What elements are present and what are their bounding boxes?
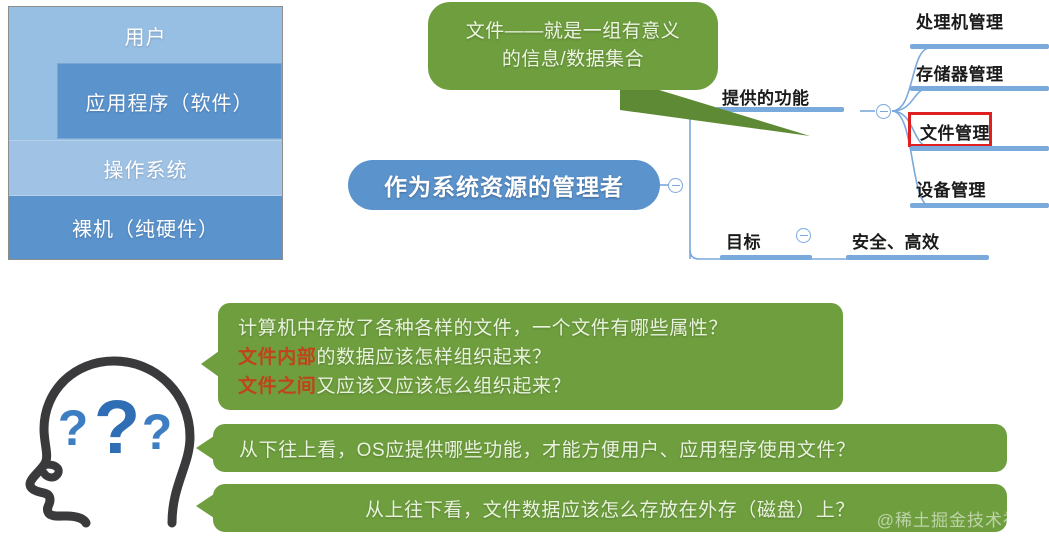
mindmap-root-label: 作为系统资源的管理者 — [384, 168, 624, 202]
layer-application: 应用程序（软件） — [57, 63, 282, 139]
mindmap-leaf-device-management-underline — [910, 203, 1049, 208]
bubble-1-text-3: 又应该又应该怎么组织起来？ — [316, 376, 571, 397]
file-definition-callout: 文件——就是一组有意义 的信息/数据集合 — [428, 2, 718, 90]
question-bubble-2: 从下往上看，OS应提供哪些功能，才能方便用户、应用程序使用文件？ — [213, 424, 1007, 472]
layer-bare-machine-label: 裸机（纯硬件） — [72, 213, 219, 242]
bubble-1-line-2: 文件内部的数据应该怎样组织起来？ — [238, 344, 843, 373]
layer-user: 用户 — [9, 7, 282, 63]
mindmap-leaf-device-management-label[interactable]: 设备管理 — [916, 176, 986, 201]
callout-line-1: 文件——就是一组有意义 — [466, 18, 681, 46]
mindmap-branch-goals-label[interactable]: 目标 — [726, 228, 761, 253]
layer-operating-system: 操作系统 — [9, 140, 282, 196]
bubble-1-highlight-2: 文件之间 — [238, 376, 316, 397]
mindmap-leaf-processor-management-label[interactable]: 处理机管理 — [916, 8, 1004, 33]
mindmap-leaf-storage-management-label[interactable]: 存储器管理 — [916, 60, 1004, 85]
bubble-1-highlight-1: 文件内部 — [238, 347, 316, 368]
bubble-tail — [201, 351, 219, 377]
mindmap-leaf-storage-management-underline — [910, 86, 1049, 91]
bubble-1-text-2: 的数据应该怎样组织起来？ — [316, 347, 551, 368]
head-question-marks: ? — [94, 385, 140, 470]
bubble-tail — [196, 494, 214, 518]
bubble-2-text: 从下往上看，OS应提供哪些功能，才能方便用户、应用程序使用文件？ — [239, 435, 856, 462]
mindmap-root-node[interactable]: 作为系统资源的管理者 — [348, 160, 660, 210]
bubble-1-text-1: 计算机中存放了各种各样的文件，一个文件有哪些属性？ — [238, 318, 728, 339]
mindmap-leaf-safe-efficient-label[interactable]: 安全、高效 — [852, 228, 940, 253]
bubble-1-line-3: 文件之间又应该又应该怎么组织起来？ — [238, 373, 843, 402]
bubble-1-line-1: 计算机中存放了各种各样的文件，一个文件有哪些属性？ — [238, 315, 843, 344]
bubble-tail — [196, 436, 214, 460]
bubble-3-text: 从上往下看，文件数据应该怎么存放在外存（磁盘）上？ — [365, 495, 855, 522]
mindmap-leaf-file-management-underline — [910, 146, 1049, 151]
collapse-toggle-provided-functions[interactable] — [876, 104, 891, 119]
collapse-toggle-goals[interactable] — [796, 228, 811, 243]
callout-line-2: 的信息/数据集合 — [502, 46, 644, 74]
layer-bare-machine: 裸机（纯硬件） — [9, 196, 282, 259]
os-layer-stack-diagram: 用户 应用程序（软件） 操作系统 裸机（纯硬件） — [8, 6, 283, 260]
svg-text:?: ? — [58, 400, 89, 456]
mindmap-leaf-safe-efficient-underline — [846, 255, 989, 260]
mindmap-branch-goals-underline — [720, 255, 812, 260]
collapse-toggle-root[interactable] — [668, 178, 683, 193]
file-management-highlight-box — [908, 112, 992, 147]
layer-application-label: 应用程序（软件） — [86, 87, 254, 116]
question-bubble-3: 从上往下看，文件数据应该怎么存放在外存（磁盘）上？ — [213, 484, 1007, 532]
question-bubble-1: 计算机中存放了各种各样的文件，一个文件有哪些属性？ 文件内部的数据应该怎样组织起… — [218, 303, 843, 410]
layer-user-label: 用户 — [125, 21, 167, 50]
mindmap-leaf-processor-management-underline — [910, 44, 1049, 49]
thinking-head-icon: ? ? ? — [22, 345, 212, 530]
svg-text:?: ? — [142, 404, 173, 460]
layer-operating-system-label: 操作系统 — [104, 154, 188, 183]
